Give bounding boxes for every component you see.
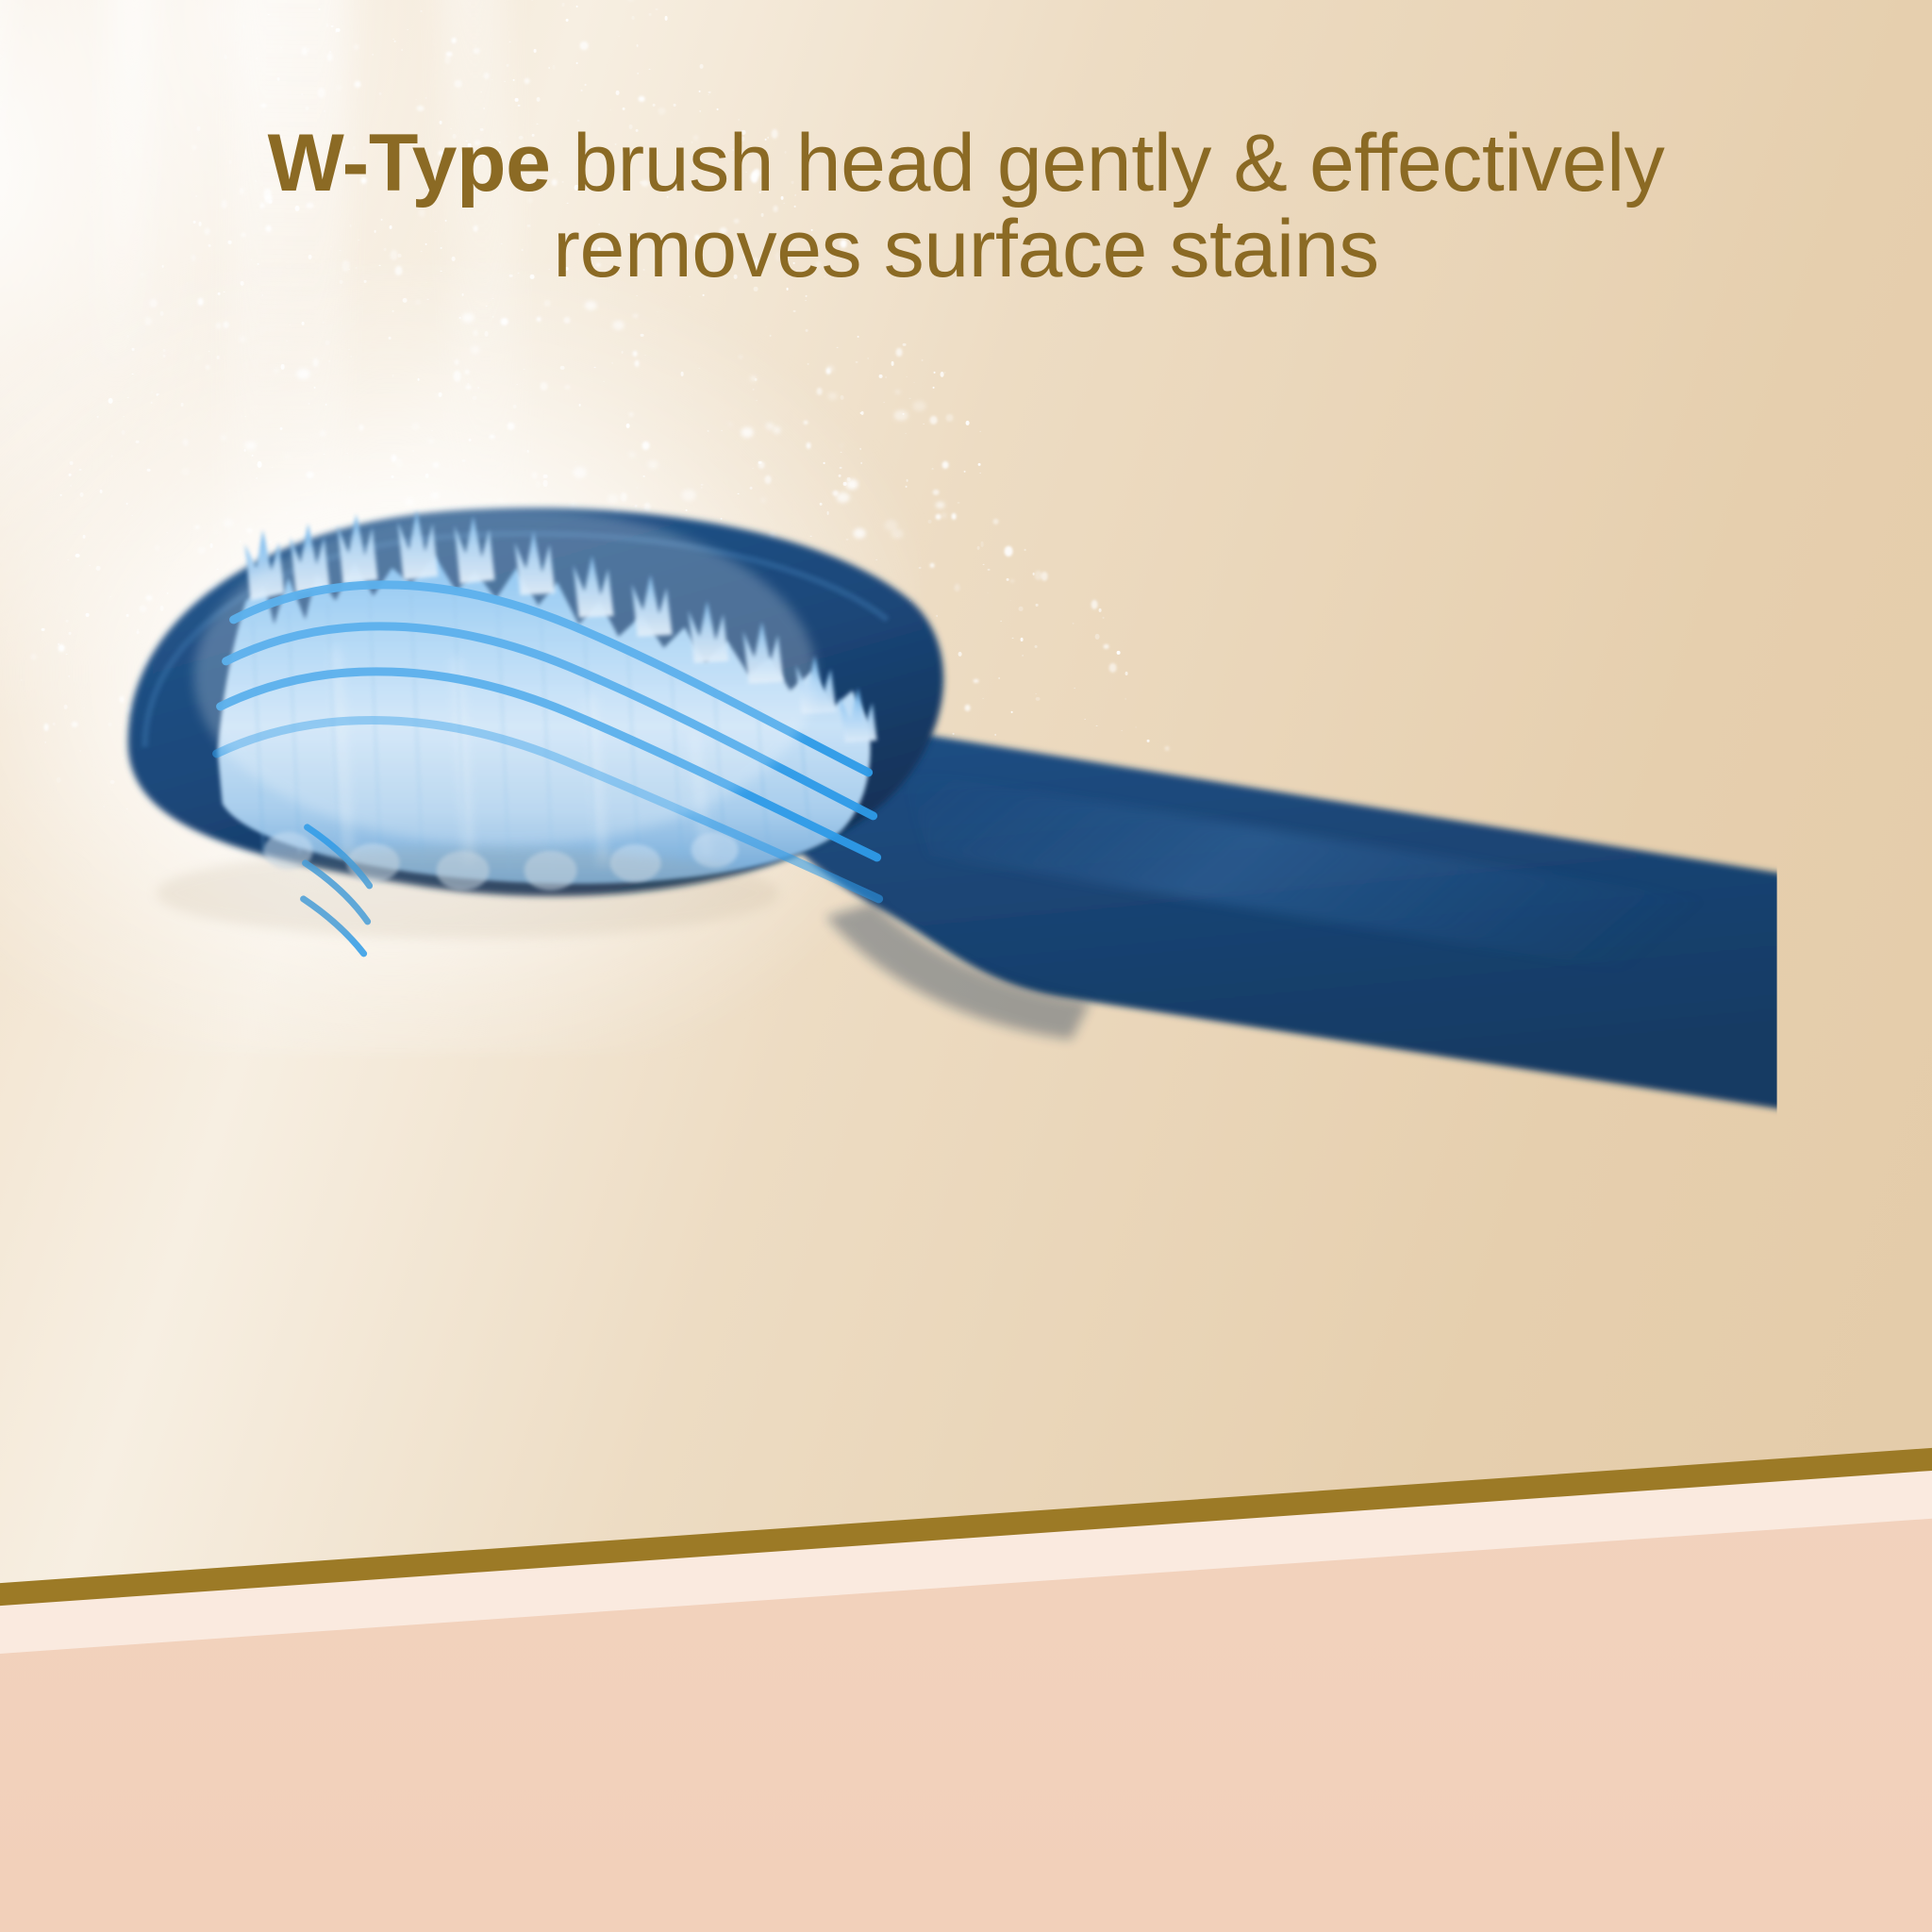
headline-line-1-rest: brush head gently & effectively <box>551 118 1665 208</box>
headline-emphasis: W-Type <box>268 118 551 208</box>
headline-line-2: removes surface stains <box>66 207 1866 292</box>
headline: W-Type brush head gently & effectively r… <box>0 121 1932 292</box>
ad-creative-canvas: W-Type brush head gently & effectively r… <box>0 0 1932 1932</box>
headline-line-1: W-Type brush head gently & effectively <box>66 121 1866 207</box>
